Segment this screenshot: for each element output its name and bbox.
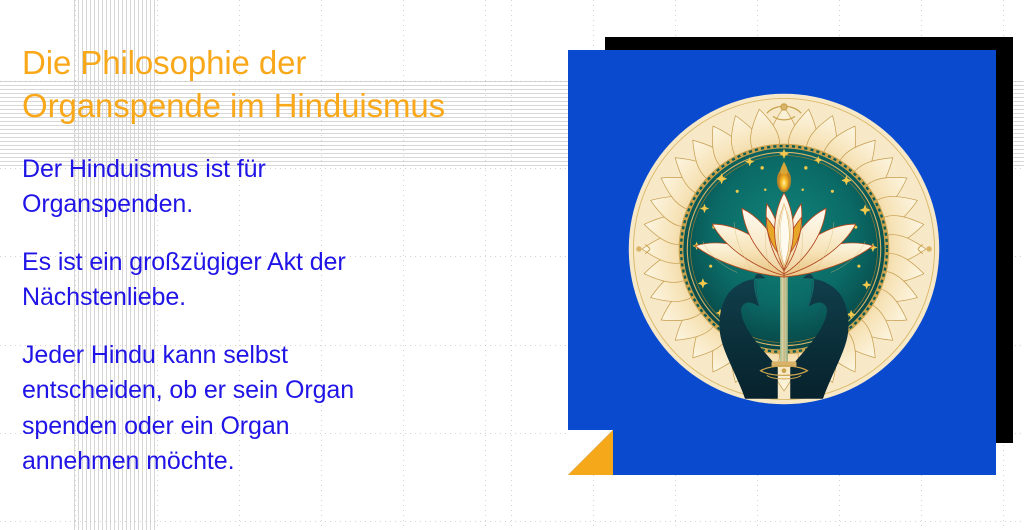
text-column: Die Philosophie der Organspende im Hindu… [22, 42, 522, 480]
body-paragraph-1: Der Hinduismus ist für Organspenden. [22, 152, 452, 223]
body-paragraph-2: Es ist ein großzügiger Akt der Nächstenl… [22, 245, 452, 316]
lotus-mandala-illustration [628, 93, 940, 405]
body-paragraph-3: Jeder Hindu kann selbst entscheiden, ob … [22, 338, 452, 480]
slide-canvas: Die Philosophie der Organspende im Hindu… [0, 0, 1024, 530]
page-title: Die Philosophie der Organspende im Hindu… [22, 42, 522, 128]
